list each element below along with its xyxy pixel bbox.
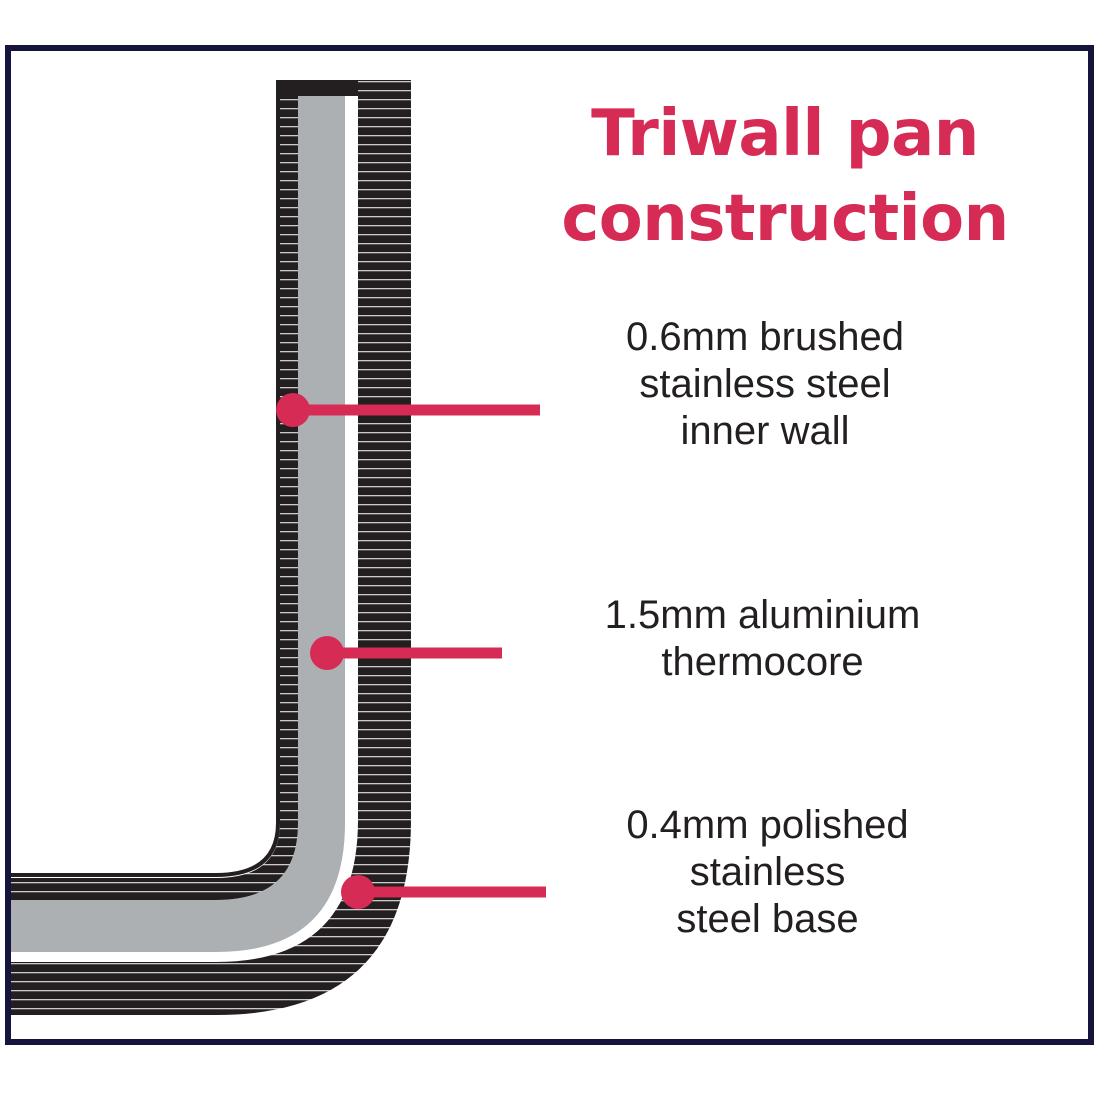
callout-base-line-1: 0.4mm polished bbox=[540, 802, 995, 849]
page-title: Triwall pan construction bbox=[520, 92, 1050, 262]
title-line-1: Triwall pan bbox=[520, 92, 1050, 177]
callout-inner-wall-line-3: inner wall bbox=[530, 408, 1000, 455]
title-line-2: construction bbox=[520, 177, 1050, 262]
infographic-root: Triwall pan construction 0.6mm brushed s… bbox=[0, 0, 1100, 1100]
callout-thermocore-line-2: thermocore bbox=[520, 639, 1005, 686]
callout-inner-wall-line-1: 0.6mm brushed bbox=[530, 314, 1000, 361]
callout-thermocore: 1.5mm aluminium thermocore bbox=[520, 592, 1005, 686]
callout-thermocore-line-1: 1.5mm aluminium bbox=[520, 592, 1005, 639]
callout-base: 0.4mm polished stainless steel base bbox=[540, 802, 995, 944]
callout-inner-wall: 0.6mm brushed stainless steel inner wall bbox=[530, 314, 1000, 456]
callout-base-line-2: stainless bbox=[540, 849, 995, 896]
callout-inner-wall-line-2: stainless steel bbox=[530, 361, 1000, 408]
callout-base-line-3: steel base bbox=[540, 896, 995, 943]
